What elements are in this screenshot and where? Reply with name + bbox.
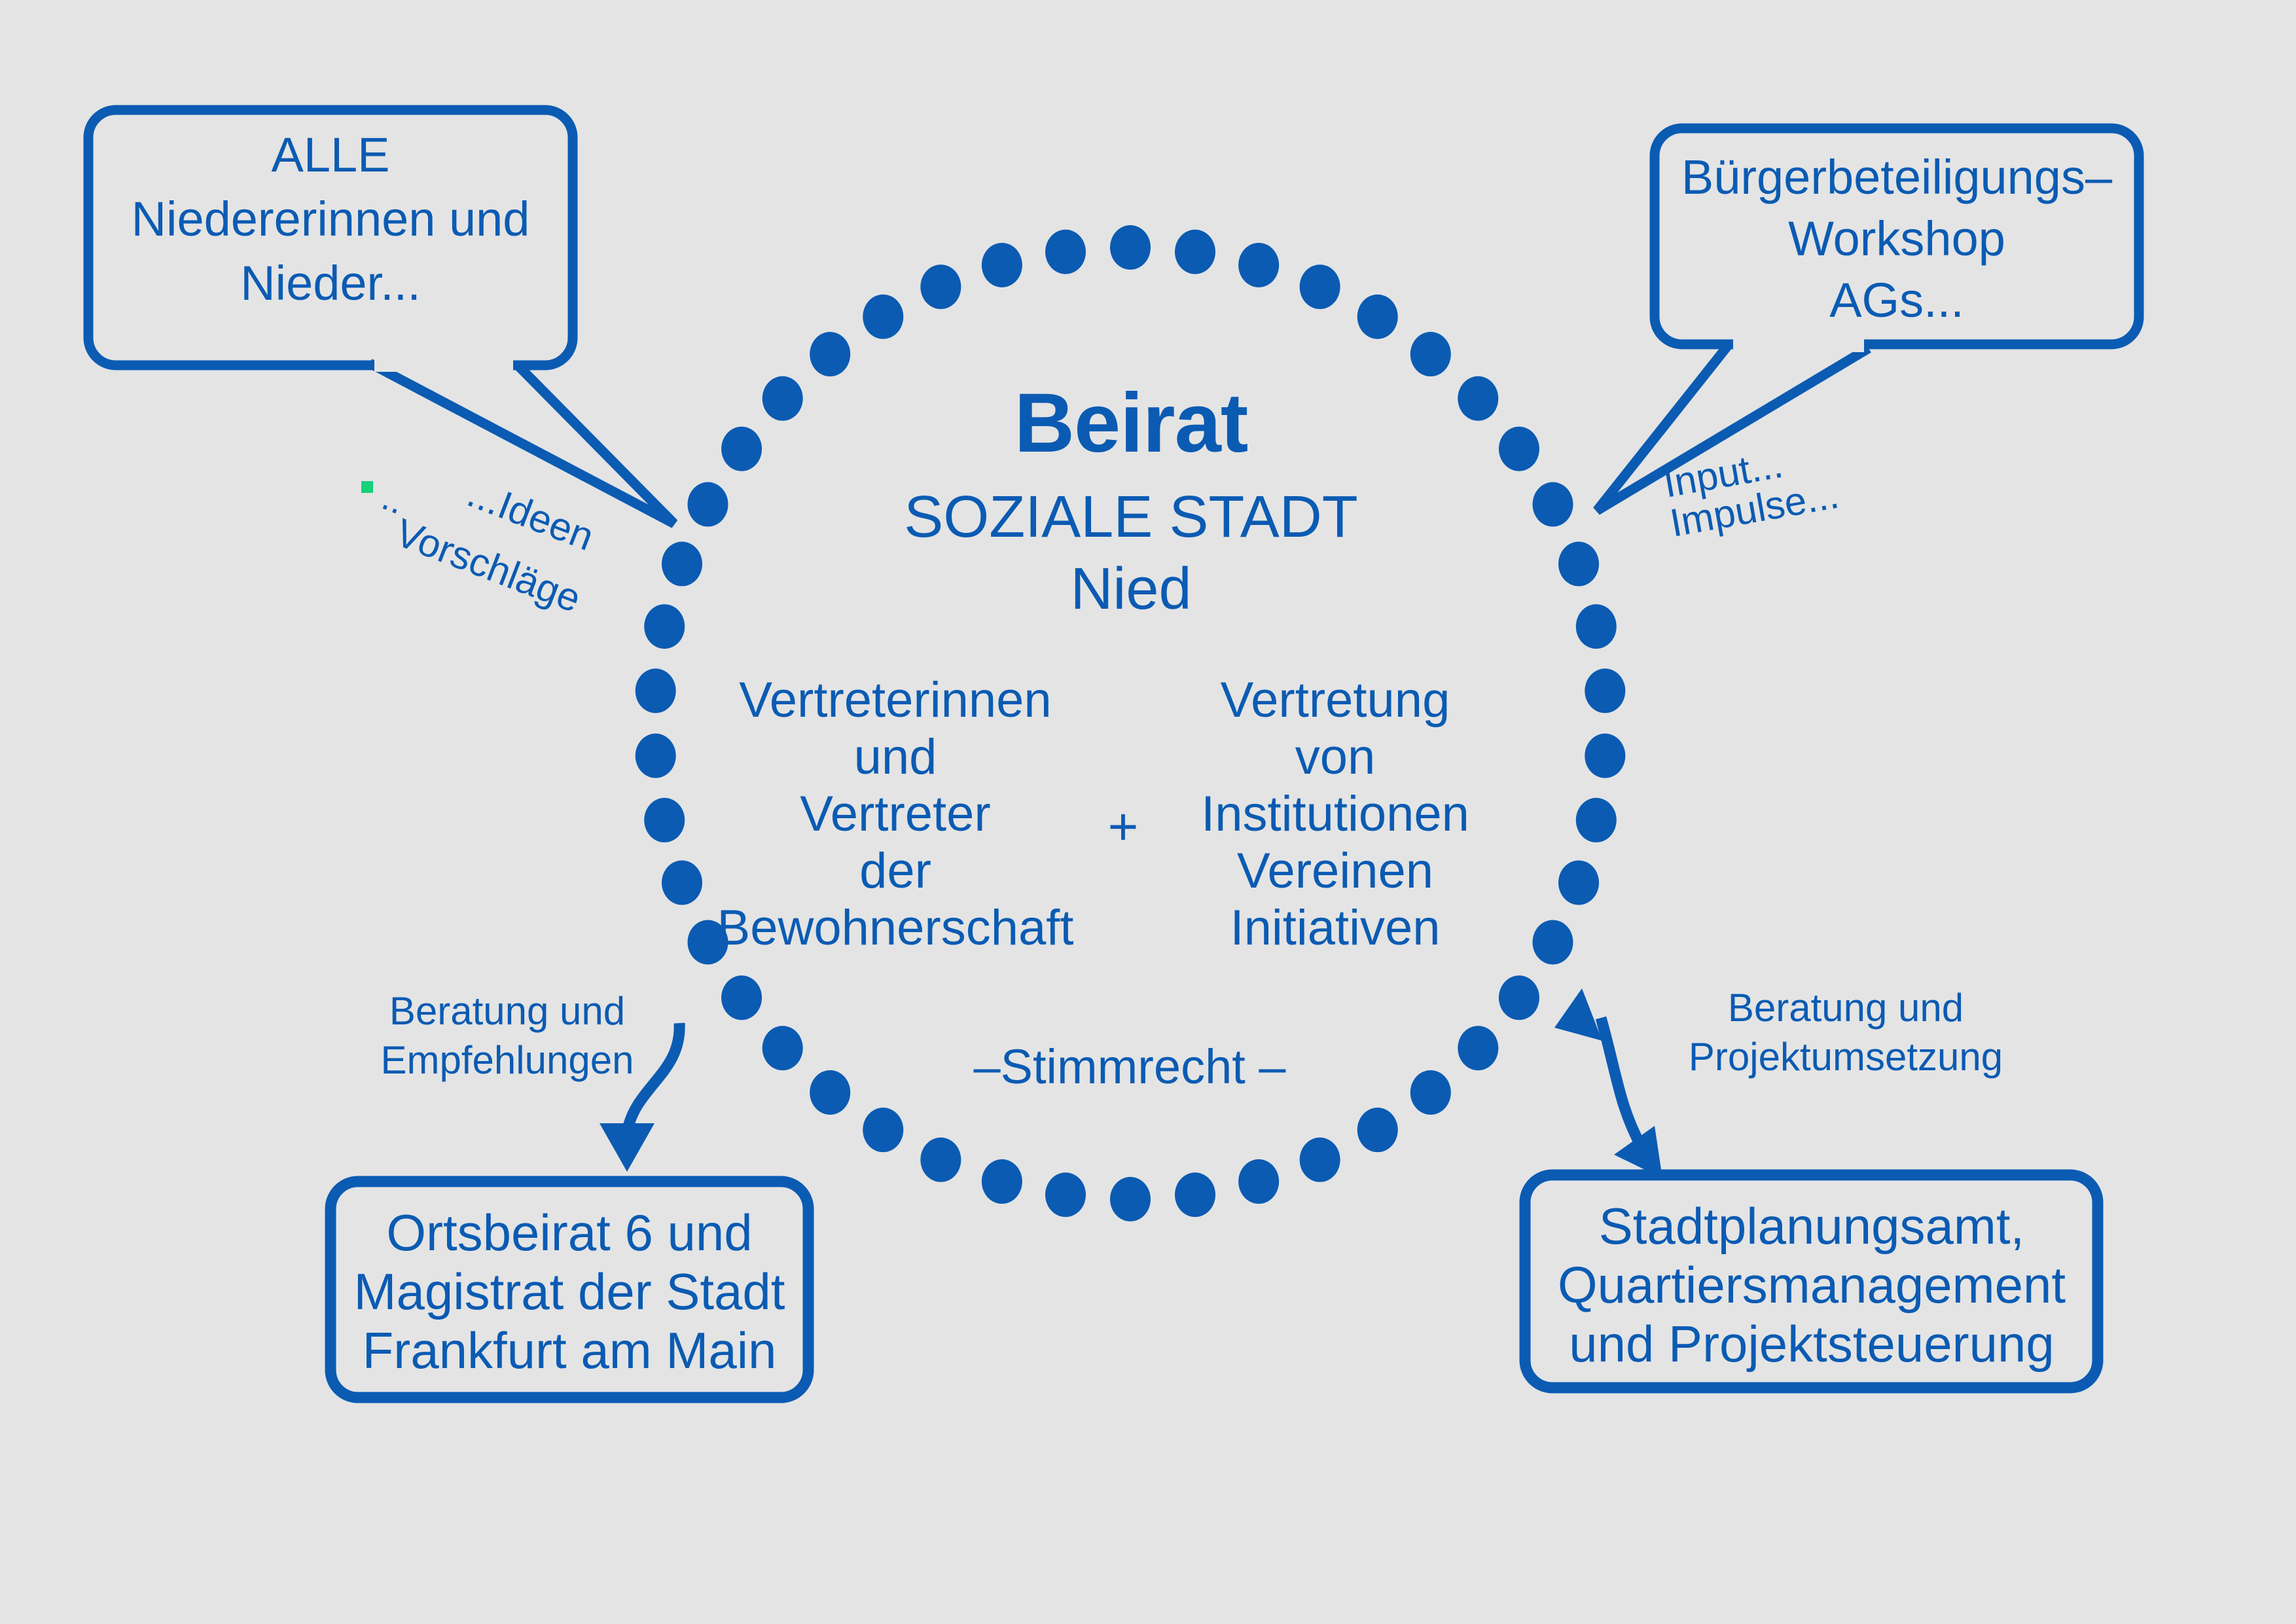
circle-dot (1110, 225, 1151, 270)
circle-dot (863, 1108, 903, 1152)
box-bl-line-3: Frankfurt am Main (363, 1322, 777, 1379)
box-br-line-1: Stadtplanungsamt, (1599, 1197, 2024, 1255)
circle-dot (1045, 1172, 1086, 1217)
diagram-canvas: ALLE Niedererinnen und Nieder... Bürgerb… (0, 0, 2296, 1624)
bubble-tr-line-2: Workshop (1788, 211, 2005, 266)
annotation-left-bottom-line-1: Beratung und (389, 989, 625, 1033)
right-col-line-1: Vertretung (1221, 672, 1450, 728)
circle-dot (1576, 798, 1617, 842)
box-ortsbeirat-magistrat[interactable]: Ortsbeirat 6 und Magistrat der Stadt Fra… (331, 1182, 808, 1398)
bubble-tl-line-2: Niedererinnen und (132, 192, 530, 246)
left-col-line-1: Vertreterinnen (739, 672, 1051, 728)
circle-dot (644, 604, 685, 649)
bubble-tr-line-3: AGs... (1829, 273, 1964, 327)
left-col-line-5: Bewohnerschaft (717, 900, 1074, 956)
circle-dot (1045, 230, 1086, 274)
circle-dot (1532, 920, 1573, 964)
circle-dot (1357, 295, 1398, 339)
circle-dot (636, 668, 676, 713)
annotation-right-top: Input... Impulse... (1660, 442, 1842, 545)
right-col-line-2: von (1295, 729, 1376, 785)
arrow-right-bottom-head-up (1554, 988, 1602, 1041)
circle-dot (1499, 975, 1539, 1020)
speech-bubble-top-right-tail-join (1733, 339, 1864, 352)
plus-sign: + (1108, 797, 1139, 856)
speech-bubble-top-left-tail-join (374, 359, 513, 372)
center-right-column: Vertretung von Institutionen Vereinen In… (1201, 672, 1469, 956)
circle-dot (1410, 1070, 1451, 1115)
green-marker-dot (361, 481, 373, 493)
circle-dot (1499, 427, 1539, 471)
box-stadtplanungsamt[interactable]: Stadtplanungsamt, Quartiersmanagement un… (1525, 1175, 2098, 1388)
arrow-right-bottom-shaft (1601, 1018, 1641, 1147)
right-col-line-5: Initiativen (1230, 900, 1440, 956)
circle-dot (662, 542, 702, 586)
bubble-tl-line-1: ALLE (271, 128, 389, 182)
arrow-beirat-projektumsetzung (1554, 988, 1662, 1178)
circle-dot (1576, 604, 1617, 649)
speech-bubble-top-right[interactable]: Bürgerbeteiligungs– Workshop AGs... (1597, 128, 2139, 511)
left-col-line-2: und (854, 729, 937, 785)
box-br-line-2: Quartiersmanagement (1558, 1256, 2066, 1314)
circle-dot (1357, 1108, 1398, 1152)
arrow-left-bottom-shaft (627, 1023, 679, 1132)
annotation-left-top: .. ...Ideen Vorschläge (361, 471, 600, 621)
circle-dot (1458, 376, 1498, 421)
circle-dot (1300, 264, 1340, 309)
left-col-line-4: der (859, 843, 931, 899)
circle-dot (721, 975, 762, 1020)
box-bl-line-1: Ortsbeirat 6 und (386, 1204, 752, 1261)
circle-dot (982, 243, 1022, 287)
circle-dot (1238, 1159, 1279, 1204)
annotation-left-bottom: Beratung und Empfehlungen (381, 989, 680, 1172)
circle-dot (762, 1026, 803, 1070)
box-bl-line-2: Magistrat der Stadt (354, 1263, 785, 1320)
right-col-line-3: Institutionen (1201, 786, 1469, 842)
circle-dot (1175, 230, 1215, 274)
annotation-right-bottom-line-2: Projektumsetzung (1689, 1035, 2003, 1079)
circle-dot (1458, 1026, 1498, 1070)
circle-dot (1532, 482, 1573, 527)
circle-dot (1410, 332, 1451, 376)
circle-dot (1585, 668, 1625, 713)
circle-dot (982, 1159, 1022, 1204)
circle-dot (662, 860, 702, 905)
circle-dot (920, 1138, 961, 1182)
center-content: Beirat SOZIALE STADT Nied Vertreterinnen… (717, 376, 1469, 1094)
annotation-left-bottom-line-2: Empfehlungen (381, 1038, 634, 1082)
box-br-line-3: und Projektsteuerung (1569, 1315, 2054, 1373)
center-subtitle-line-1: SOZIALE STADT (904, 484, 1357, 550)
annotation-right-bottom: Beratung und Projektumsetzung (1554, 986, 2003, 1178)
circle-dot (863, 295, 903, 339)
bubble-tr-line-1: Bürgerbeteiligungs– (1681, 150, 2113, 204)
circle-dot (1110, 1177, 1151, 1221)
circle-dot (762, 376, 803, 421)
circle-dot (1585, 734, 1625, 778)
circle-dot (1238, 243, 1279, 287)
center-title: Beirat (1014, 376, 1248, 470)
circle-dot (1300, 1138, 1340, 1182)
circle-dot (721, 427, 762, 471)
circle-dot (1558, 860, 1599, 905)
circle-dot (810, 1070, 850, 1115)
circle-dot (1175, 1172, 1215, 1217)
circle-dot (920, 264, 961, 309)
stimmrecht-label: –Stimmrecht – (973, 1039, 1286, 1094)
circle-dot (636, 734, 676, 778)
center-left-column: Vertreterinnen und Vertreter der Bewohne… (717, 672, 1074, 956)
right-col-line-4: Vereinen (1237, 843, 1433, 899)
circle-dot (644, 798, 685, 842)
speech-bubble-top-left[interactable]: ALLE Niedererinnen und Nieder... (88, 110, 674, 524)
annotation-right-bottom-line-1: Beratung und (1728, 986, 1964, 1030)
circle-dot (688, 482, 728, 527)
center-subtitle-line-2: Nied (1070, 556, 1191, 622)
arrow-left-bottom-head (600, 1123, 655, 1172)
left-col-line-3: Vertreter (800, 786, 990, 842)
circle-dot (810, 332, 850, 376)
bubble-tl-line-3: Nieder... (240, 256, 421, 310)
circle-dot (1558, 542, 1599, 586)
